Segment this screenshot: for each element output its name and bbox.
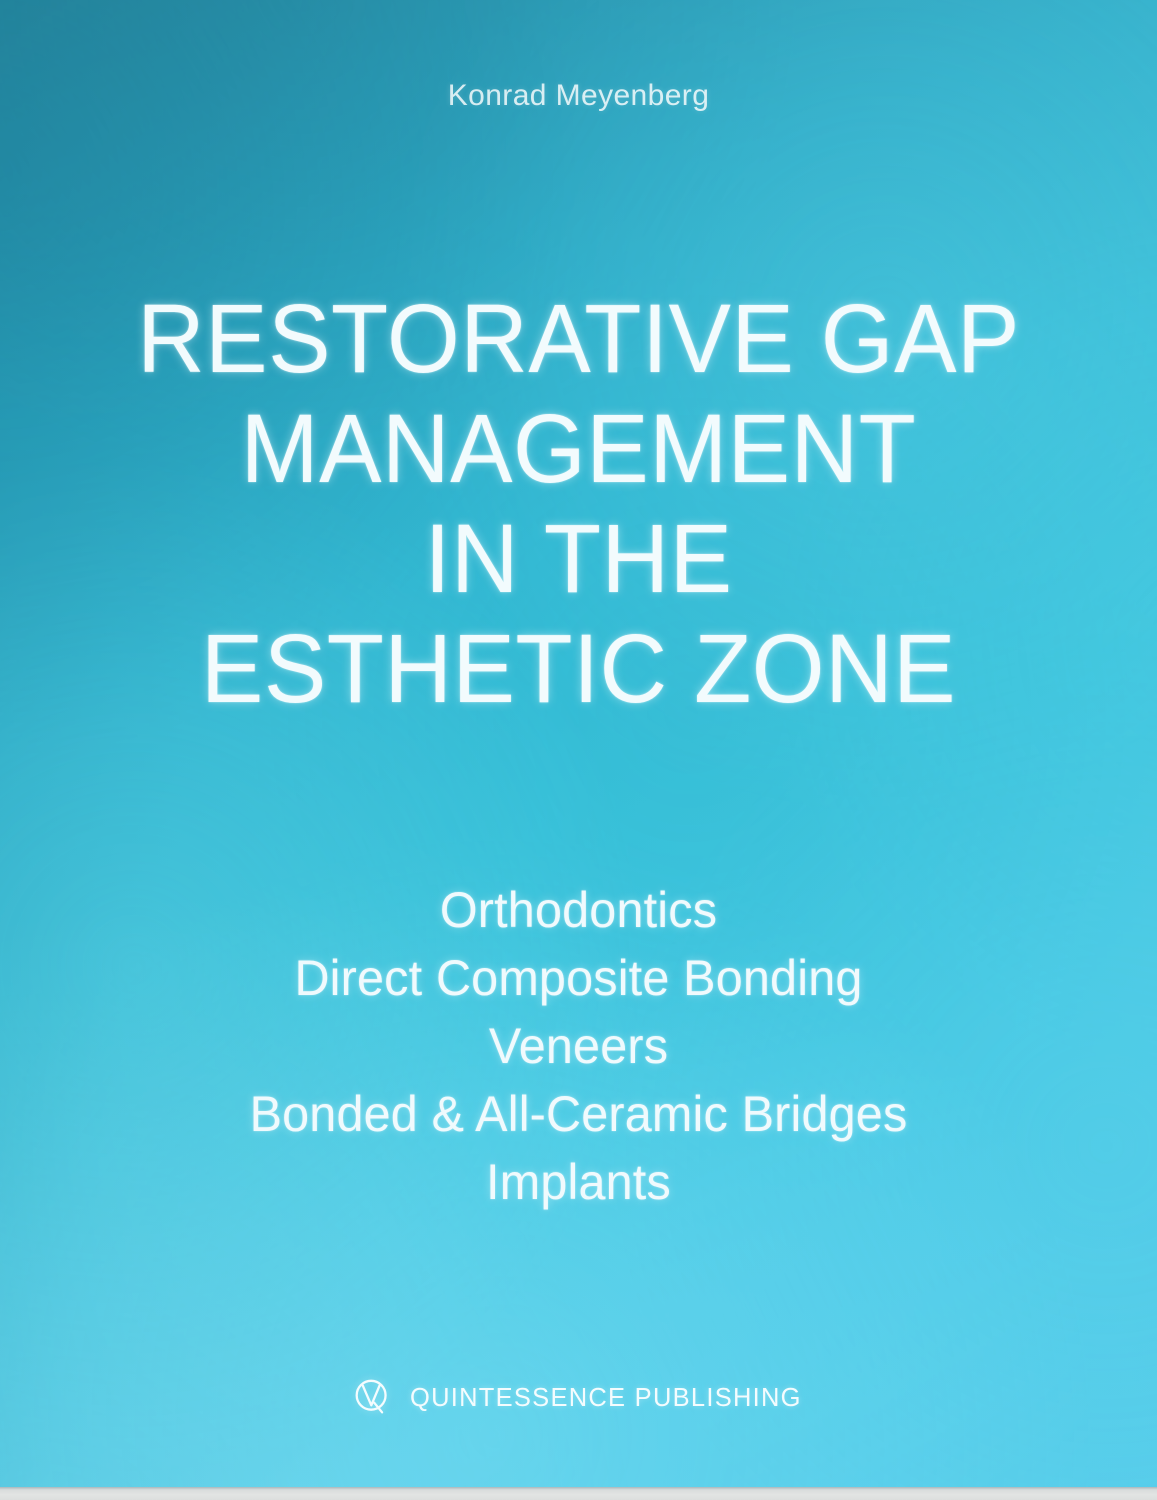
publisher-name: QUINTESSENCE PUBLISHING [410, 1382, 802, 1413]
subtitle-line-3: Veneers [17, 1012, 1139, 1080]
author-name: Konrad Meyenberg [0, 78, 1157, 114]
title-line-4: ESTHETIC ZONE [20, 614, 1137, 724]
quintessence-q-circle-logo-icon [351, 1376, 393, 1418]
subtitle-line-4: Bonded & All-Ceramic Bridges [17, 1080, 1139, 1148]
title-line-2: MANAGEMENT [20, 394, 1137, 504]
book-subtitle-topics: Orthodontics Direct Composite Bonding Ve… [0, 876, 1157, 1216]
publisher-logo: QUINTESSENCE PUBLISHING [0, 1376, 1157, 1418]
subtitle-line-2: Direct Composite Bonding [17, 944, 1139, 1012]
cover-content: Konrad Meyenberg RESTORATIVE GAP MANAGEM… [0, 0, 1157, 1500]
scan-bottom-edge [0, 1487, 1157, 1500]
title-line-3: IN THE [20, 504, 1137, 614]
subtitle-line-1: Orthodontics [17, 876, 1139, 944]
title-line-1: RESTORATIVE GAP [20, 284, 1137, 394]
book-cover: Konrad Meyenberg RESTORATIVE GAP MANAGEM… [0, 0, 1157, 1500]
book-title: RESTORATIVE GAP MANAGEMENT IN THE ESTHET… [0, 284, 1157, 724]
subtitle-line-5: Implants [17, 1148, 1139, 1216]
